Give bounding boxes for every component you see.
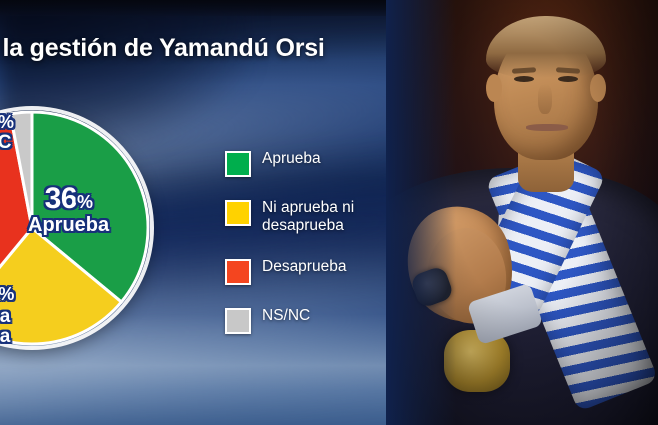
pie-label-nsnc: 3% NC <box>0 106 13 152</box>
pie-label-ni-value: 25% <box>0 274 14 307</box>
pie-label-ni-aprueba: 25% ueba ueba <box>0 276 14 347</box>
legend-item-aprueba: Aprueba <box>225 150 392 177</box>
legend-label-aprueba: Aprueba <box>262 150 321 168</box>
pie-label-nsnc-name: NC <box>0 133 13 152</box>
photo-left-fade <box>386 0 456 425</box>
legend-item-nsnc: NS/NC <box>225 307 392 334</box>
legend-swatch-ni-aprueba <box>225 200 251 226</box>
pie-label-nsnc-value: 3% <box>0 104 13 134</box>
page-title: e la gestión de Yamandú Orsi <box>0 34 325 63</box>
pie-label-ni-name-line2: ueba <box>0 327 14 346</box>
pie-label-aprueba: 36% Aprueba <box>28 184 109 235</box>
president-photo <box>386 0 658 425</box>
legend-label-desaprueba: Desaprueba <box>262 258 346 276</box>
legend-swatch-nsnc <box>225 308 251 334</box>
pie-label-ni-name-line1: ueba <box>0 307 14 326</box>
legend-swatch-aprueba <box>225 151 251 177</box>
chart-legend: Aprueba Ni aprueba ni desaprueba Desapru… <box>225 150 392 356</box>
broadcast-graphic-screen: e la gestión de Yamandú Orsi 36% Aprueba… <box>0 0 658 425</box>
legend-item-desaprueba: Desaprueba <box>225 258 392 285</box>
legend-label-nsnc: NS/NC <box>262 307 310 325</box>
legend-item-ni-aprueba: Ni aprueba ni desaprueba <box>225 199 392 236</box>
legend-label-ni-aprueba: Ni aprueba ni desaprueba <box>262 199 392 236</box>
legend-swatch-desaprueba <box>225 259 251 285</box>
pie-label-aprueba-name: Aprueba <box>28 215 109 235</box>
pie-label-aprueba-value: 36% <box>45 182 93 215</box>
